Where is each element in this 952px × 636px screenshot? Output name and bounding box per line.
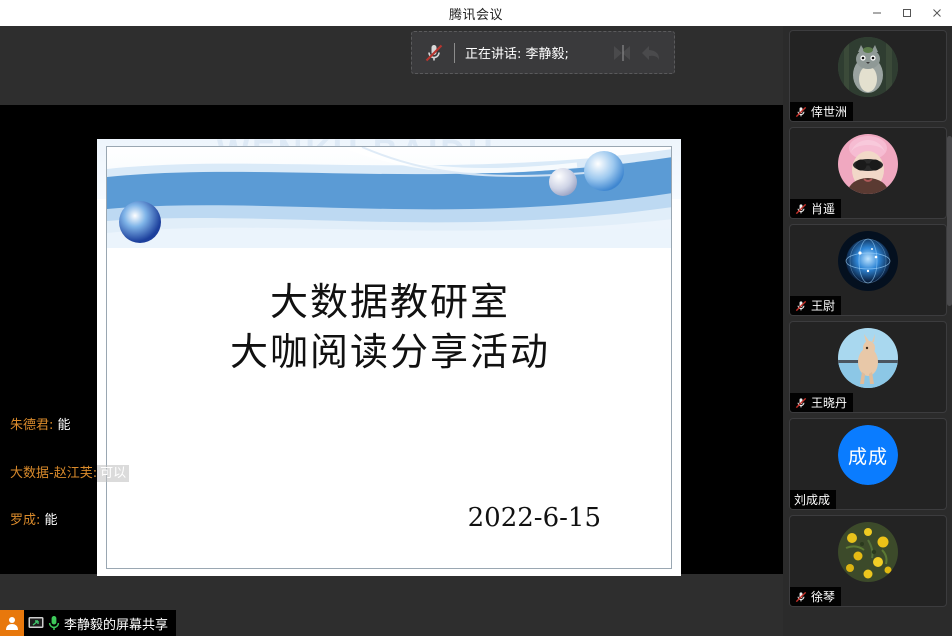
screen-share-icon[interactable]	[28, 616, 44, 631]
avatar-initials-text: 成成	[848, 442, 888, 469]
speaking-actions	[610, 40, 664, 66]
slide-title-block: 大数据教研室 大咖阅读分享活动	[107, 277, 672, 377]
window-title: 腾讯会议	[449, 4, 503, 23]
mic-muted-icon	[794, 396, 808, 410]
speaking-divider	[454, 43, 455, 63]
chat-text: 能	[58, 418, 71, 433]
participant-card[interactable]: 成成 刘成成	[789, 418, 947, 510]
chat-overlay: 朱德君: 能 大数据-赵江芙:可以 罗成: 能	[8, 416, 288, 559]
slide-title-line-1: 大数据教研室	[107, 277, 672, 327]
mic-muted-icon	[794, 590, 808, 604]
speaking-label: 正在讲话: 李静毅;	[465, 43, 610, 62]
chat-message: 朱德君: 能	[8, 416, 73, 436]
avatar	[838, 134, 898, 194]
participant-panel[interactable]: 倖世洲	[783, 26, 952, 636]
speaking-indicator-bar[interactable]: 正在讲话: 李静毅;	[411, 31, 675, 74]
participant-name: 刘成成	[794, 491, 830, 508]
avatar-initials: 成成	[838, 425, 898, 485]
participant-name: 倖世洲	[811, 103, 847, 120]
slide-banner-decoration	[107, 147, 672, 248]
close-button[interactable]	[922, 0, 952, 26]
collapse-chevrons-icon[interactable]	[610, 40, 636, 66]
participant-nametag: 肖遥	[790, 199, 841, 218]
chat-sender: 大数据-赵江芙:	[10, 466, 97, 481]
chat-message: 罗成: 能	[8, 511, 60, 531]
chat-message-row: 朱德君: 能	[8, 416, 288, 449]
meeting-stage: 正在讲话: 李静毅; WENKU.BAIDU	[0, 26, 783, 636]
participant-scrollbar[interactable]	[947, 26, 952, 636]
maximize-button[interactable]	[892, 0, 922, 26]
participant-name: 王晓丹	[811, 394, 847, 411]
participant-nametag: 刘成成	[790, 490, 836, 509]
participant-card[interactable]: 徐琴	[789, 515, 947, 607]
mic-muted-icon	[422, 41, 446, 65]
participant-name: 徐琴	[811, 588, 835, 605]
chat-sender: 朱德君:	[10, 418, 53, 433]
avatar	[838, 37, 898, 97]
participant-card[interactable]: 王晓丹	[789, 321, 947, 413]
back-arrow-icon[interactable]	[638, 40, 664, 66]
chat-sender: 罗成:	[10, 513, 40, 528]
scrollbar-thumb[interactable]	[947, 136, 952, 306]
minimize-button[interactable]	[862, 0, 892, 26]
chat-text: 能	[45, 513, 58, 528]
share-owner-label: 李静毅的屏幕共享	[64, 614, 168, 633]
participant-card[interactable]: 王尉	[789, 224, 947, 316]
chat-message-row: 罗成: 能	[8, 511, 288, 544]
share-info-group: 李静毅的屏幕共享	[24, 610, 176, 636]
participant-name: 王尉	[811, 297, 835, 314]
slide-date: 2022-6-15	[468, 503, 601, 533]
participant-nametag: 倖世洲	[790, 102, 853, 121]
mic-muted-icon	[794, 299, 808, 313]
mic-on-icon[interactable]	[48, 615, 60, 631]
chat-text: 可以	[97, 465, 129, 482]
screen-share-status-bar: 李静毅的屏幕共享	[0, 610, 290, 636]
mic-muted-icon	[794, 202, 808, 216]
user-icon[interactable]	[0, 610, 24, 636]
window-controls	[862, 0, 952, 26]
avatar	[838, 522, 898, 582]
participant-nametag: 王晓丹	[790, 393, 853, 412]
participant-card[interactable]: 肖遥	[789, 127, 947, 219]
chat-message-row: 大数据-赵江芙:可以	[8, 464, 288, 497]
tencent-meeting-window: 腾讯会议	[0, 0, 952, 636]
mic-muted-icon	[794, 105, 808, 119]
chat-message: 大数据-赵江芙:可以	[8, 464, 131, 484]
title-bar: 腾讯会议	[0, 0, 952, 26]
participant-card[interactable]: 倖世洲	[789, 30, 947, 122]
participant-nametag: 王尉	[790, 296, 841, 315]
participant-nametag: 徐琴	[790, 587, 841, 606]
avatar	[838, 231, 898, 291]
participant-name: 肖遥	[811, 200, 835, 217]
slide-title-line-2: 大咖阅读分享活动	[107, 327, 672, 377]
avatar	[838, 328, 898, 388]
